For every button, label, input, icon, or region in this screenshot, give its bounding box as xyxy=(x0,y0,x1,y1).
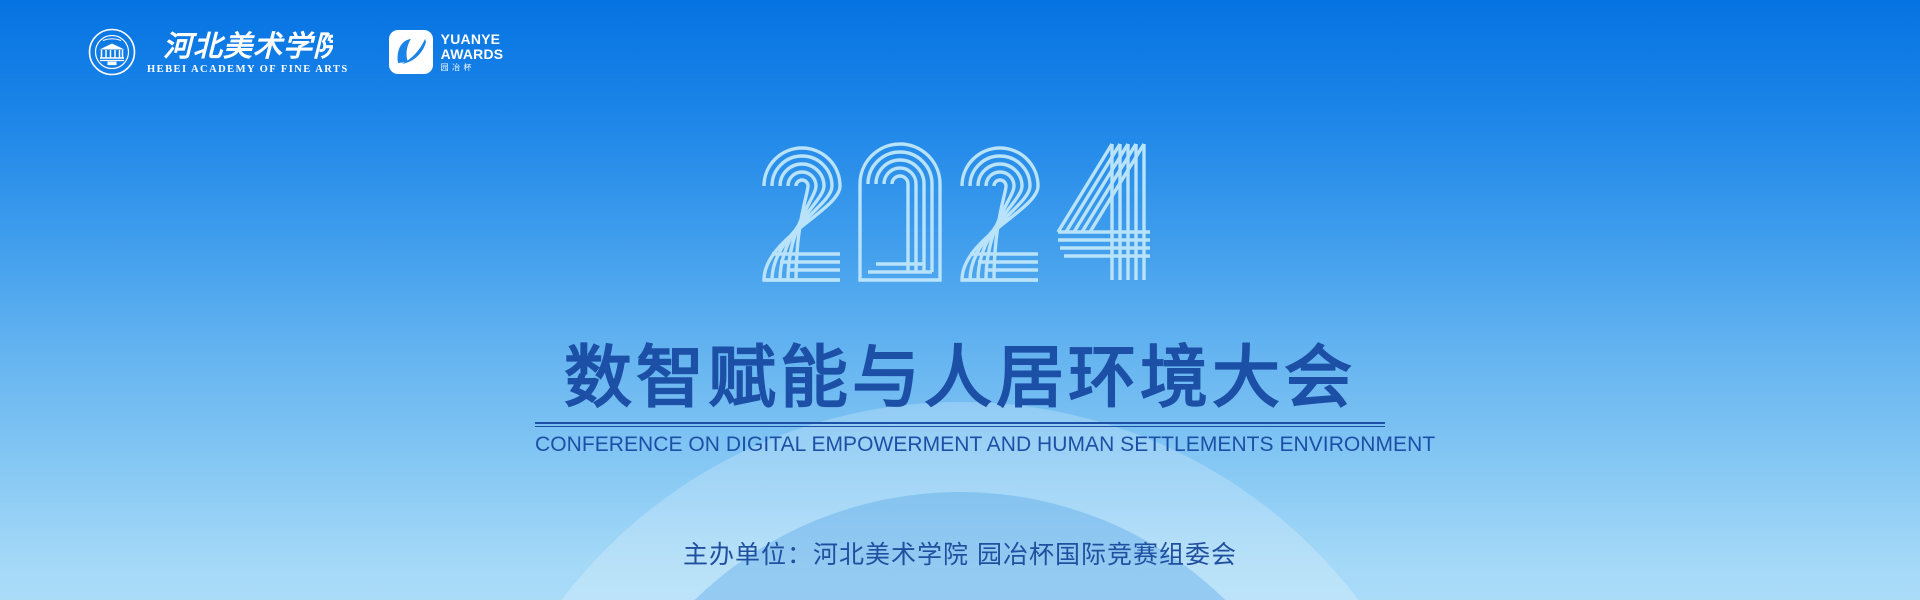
yuanye-line-2: AWARDS xyxy=(441,47,504,61)
yuanye-line-3-cn: 园冶杯 xyxy=(441,64,504,72)
yuanye-awards-wordmark: YUANYE AWARDS 园冶杯 xyxy=(441,32,504,72)
hebei-academy-name-cn: 河北美术学院 xyxy=(163,29,333,63)
svg-text:河北美术学院: 河北美术学院 xyxy=(163,30,333,63)
hebei-academy-name: 河北美术学院 HEBEI ACADEMY OF FINE ARTS xyxy=(147,29,349,75)
year-2024-graphic xyxy=(760,136,1160,284)
hebei-academy-crest-icon xyxy=(88,28,136,76)
organizer-line: 主办单位：河北美术学院 园冶杯国际竞赛组委会 xyxy=(683,535,1237,571)
conference-title-en: CONFERENCE ON DIGITAL EMPOWERMENT AND HU… xyxy=(535,433,1385,457)
logo-row: 河北美术学院 HEBEI ACADEMY OF FINE ARTS YUANYE… xyxy=(88,28,503,76)
yuanye-awards-mark-icon xyxy=(389,30,433,74)
yuanye-awards-logo: YUANYE AWARDS 园冶杯 xyxy=(389,30,504,74)
hebei-academy-name-en: HEBEI ACADEMY OF FINE ARTS xyxy=(147,64,349,75)
yuanye-line-1: YUANYE xyxy=(441,32,504,46)
hebei-academy-logo: 河北美术学院 HEBEI ACADEMY OF FINE ARTS xyxy=(88,28,349,76)
conference-banner: 河北美术学院 HEBEI ACADEMY OF FINE ARTS YUANYE… xyxy=(0,0,1920,600)
title-divider-rule xyxy=(535,422,1385,427)
hero-title-block: 数智赋能与人居环境大会 CONFERENCE ON DIGITAL EMPOWE… xyxy=(535,344,1385,457)
conference-title-cn: 数智赋能与人居环境大会 xyxy=(535,344,1385,413)
